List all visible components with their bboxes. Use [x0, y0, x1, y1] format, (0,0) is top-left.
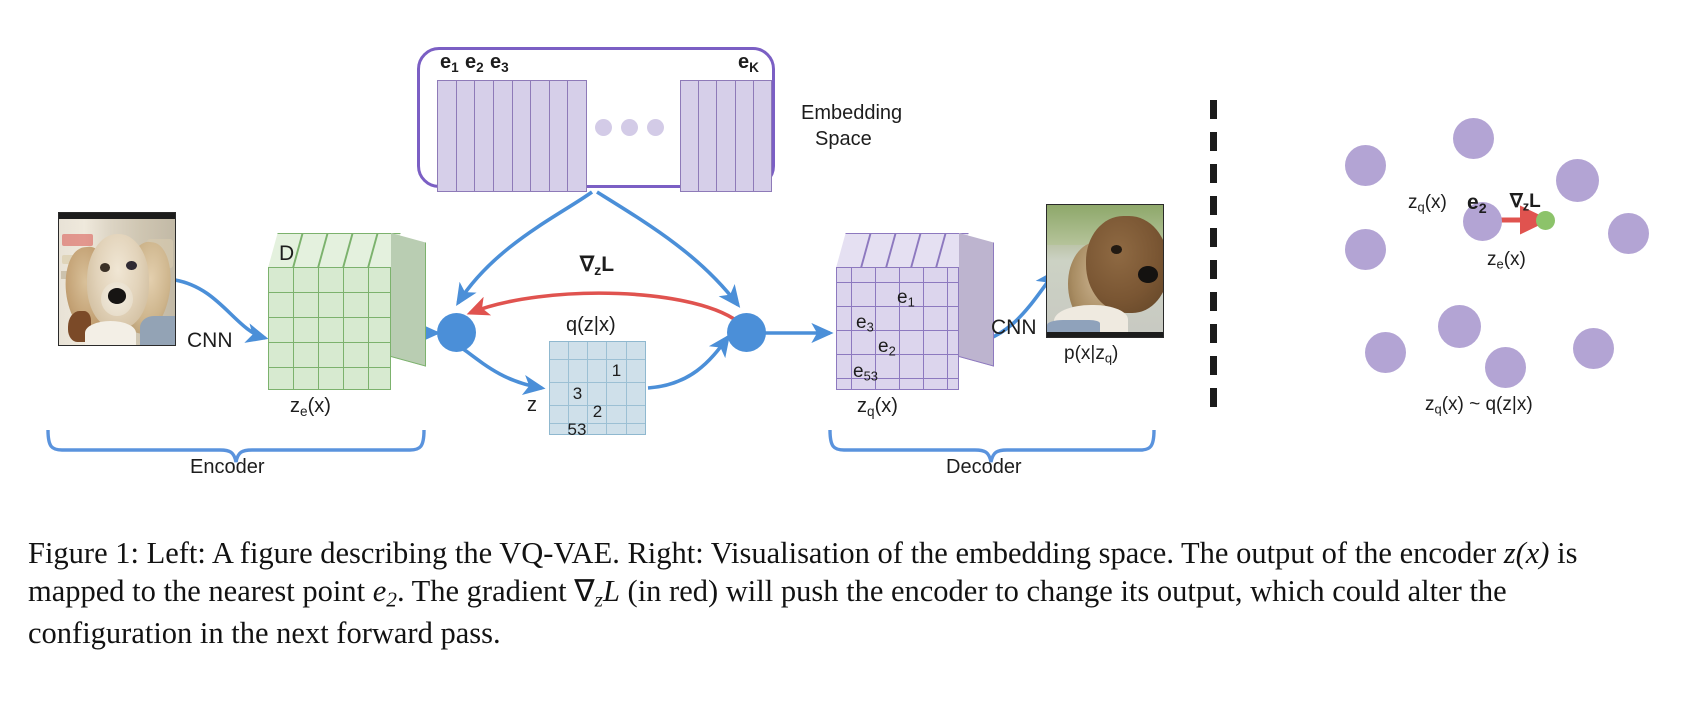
encoder-cnn-label: CNN [187, 330, 233, 351]
encoder-depth-label: D [279, 243, 294, 264]
label-tail: ) [1112, 343, 1118, 364]
arrow-codebook-to-right-node [597, 192, 738, 305]
codebook-column [754, 81, 771, 191]
label-base: p(x|z [1064, 343, 1105, 364]
codebook-ellipsis [595, 119, 664, 136]
embedding-space-title-line1: Embedding [801, 103, 902, 123]
decoder-cube-side [959, 233, 994, 367]
codebook-label-e3: e3 [490, 52, 509, 74]
label-sub: 53 [864, 369, 878, 384]
codebook-column [550, 81, 569, 191]
codebook-label-e2: e2 [465, 52, 484, 74]
embedding-point [1365, 332, 1406, 373]
ellipsis-dot [595, 119, 612, 136]
label-base: e [490, 51, 501, 73]
embedding-point [1345, 145, 1386, 186]
latent-code-grid: 1 3 2 53 [549, 341, 646, 435]
input-image-dog [58, 212, 176, 346]
label-base: z [857, 395, 867, 417]
codebook-column [568, 81, 586, 191]
photo-bottom-band [1047, 332, 1163, 337]
caption-math-nabla: ∇ [574, 574, 594, 608]
gradient-operand: L [1529, 191, 1541, 212]
photo-clutter [62, 234, 92, 246]
ellipsis-dot [621, 119, 638, 136]
label-sub: e [300, 404, 308, 419]
dog-nose [1138, 266, 1159, 283]
codebook-column [531, 81, 550, 191]
label-base: e [440, 51, 451, 73]
label-sub: 1 [908, 295, 915, 310]
label-tail: (x) [1504, 249, 1526, 270]
label-base: e [878, 336, 889, 357]
codebook-column [717, 81, 735, 191]
label-base: z [1487, 249, 1497, 270]
ellipsis-dot [647, 119, 664, 136]
embedding-point [1438, 305, 1481, 348]
codebook-column [736, 81, 754, 191]
encoder-cube-side [391, 233, 426, 367]
right-panel-ze-label: ze(x) [1487, 250, 1526, 272]
panel-divider-dashed [1210, 100, 1217, 400]
dog-eye-right [126, 261, 136, 270]
caption-prefix: Figure 1: Left: A figure describing the … [28, 536, 1504, 570]
decoder-cube-cell-e1: e1 [897, 288, 915, 310]
embedding-point [1556, 159, 1599, 202]
latent-grid-title: q(z|x) [566, 315, 616, 335]
label-sub: q [1435, 402, 1442, 417]
codebook-block-first [437, 80, 587, 192]
codebook-label-eK: eK [738, 52, 759, 74]
encoder-brace-label: Encoder [190, 457, 265, 477]
nabla-icon: ∇ [580, 252, 594, 276]
output-likelihood-label: p(x|zq) [1064, 344, 1118, 366]
latent-cell: 3 [568, 384, 587, 404]
label-base: e [897, 287, 908, 308]
label-sub: q [1418, 200, 1425, 215]
label-base: z [290, 395, 300, 417]
photo-top-band [59, 213, 175, 219]
gradient-operand: L [601, 253, 614, 276]
right-panel-bottom-label: zq(x) ~ q(z|x) [1425, 395, 1533, 417]
decoder-brace-label: Decoder [946, 457, 1022, 477]
label-base: e [853, 361, 864, 382]
codebook-column [475, 81, 494, 191]
photo-shoulder [140, 316, 175, 345]
label-base: e [856, 312, 867, 333]
nabla-icon: ∇ [1510, 191, 1523, 212]
latent-axis-label: z [527, 395, 537, 415]
arrow-codebook-to-left-node [458, 192, 592, 303]
label-sub: e [1497, 257, 1504, 272]
codebook-column [681, 81, 699, 191]
label-sub: 2 [476, 60, 484, 75]
right-panel-e2-label: e2 [1467, 192, 1487, 216]
figure-caption: Figure 1: Left: A figure describing the … [28, 534, 1664, 652]
latent-cell: 53 [562, 420, 592, 440]
label-sub: q [1105, 351, 1112, 366]
dog-eye [1111, 245, 1123, 254]
quantization-node-right [727, 313, 766, 352]
caption-math-e2: e [373, 574, 387, 608]
encoder-output-point-ze [1536, 211, 1555, 230]
label-sub: K [749, 60, 759, 75]
right-panel-gradient-label: ∇zL [1510, 192, 1541, 214]
label-tail: (x) [308, 395, 331, 417]
label-tail: (x) ~ q(z|x) [1442, 394, 1533, 415]
label-base: e [465, 51, 476, 73]
decoder-cube-cell-e3: e3 [856, 313, 874, 335]
label-tail: (x) [875, 395, 898, 417]
label-sub: 3 [501, 60, 509, 75]
embedding-point [1345, 229, 1386, 270]
label-sub: 1 [451, 60, 459, 75]
arrow-node-to-latent-grid [462, 348, 542, 388]
caption-math-e2-sub: 2 [386, 588, 397, 612]
gradient-label: ∇zL [580, 254, 614, 278]
caption-math-L: L [603, 574, 620, 608]
label-base: e [1467, 191, 1479, 214]
label-base: z [1408, 192, 1418, 213]
latent-cell: 2 [588, 402, 607, 422]
label-tail: (x) [1425, 192, 1447, 213]
quantization-node-left [437, 313, 476, 352]
codebook-column [513, 81, 532, 191]
decoder-cube-cell-e2: e2 [878, 337, 896, 359]
codebook-column [457, 81, 476, 191]
embedding-point [1608, 213, 1649, 254]
arrow-latent-grid-to-node [648, 337, 728, 388]
embedding-space-title-line2: Space [815, 129, 872, 149]
label-sub: 3 [867, 320, 874, 335]
dog-head [1086, 216, 1164, 314]
codebook-column [494, 81, 513, 191]
decoder-cube-top [836, 233, 969, 268]
embedding-point [1573, 328, 1614, 369]
decoder-cube-cell-e53: e53 [853, 362, 878, 384]
codebook-label-e1: e1 [440, 52, 459, 74]
encoder-cube-label: ze(x) [290, 396, 331, 418]
right-panel-zq-label: zq(x) [1408, 193, 1447, 215]
decoder-cube-label: zq(x) [857, 396, 898, 418]
latent-cell: 1 [607, 361, 626, 381]
encoder-cube-front [268, 267, 391, 390]
label-base: z [1425, 394, 1435, 415]
label-sub: 2 [889, 344, 896, 359]
decoder-cnn-label: CNN [991, 317, 1037, 338]
figure-root: e1 e2 e3 eK Embedding Space CNN [0, 0, 1690, 726]
embedding-point [1485, 347, 1526, 388]
label-base: e [738, 51, 749, 73]
label-sub: q [867, 404, 875, 419]
caption-math-zx: z(x) [1504, 536, 1550, 570]
caption-math-nabla-sub: z [595, 588, 603, 612]
output-image-dog [1046, 204, 1164, 338]
embedding-point [1453, 118, 1494, 159]
codebook-column [699, 81, 717, 191]
dog-chest [85, 321, 136, 345]
codebook-block-last [680, 80, 772, 192]
codebook-column [438, 81, 457, 191]
caption-mid2: . The gradient [397, 574, 574, 608]
label-sub: 2 [1479, 201, 1487, 217]
